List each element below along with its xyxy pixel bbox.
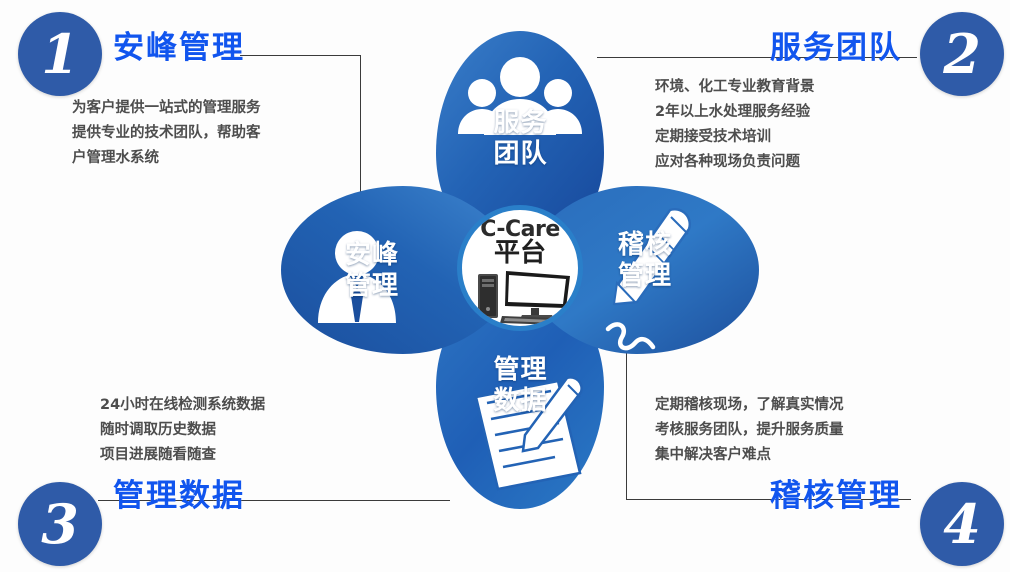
petal-label-audit-management: 稽核 管理 [618,230,718,292]
petal-label-service-team: 服务 团队 [463,108,578,170]
step-number-1: 1 [18,12,102,96]
section-body-4: 定期稽核现场，了解真实情况 考核服务团队，提升服务质量 集中解决客户难点 [655,393,844,468]
body-line: 2年以上水处理服务经验 [655,100,815,125]
step-number-4: 4 [920,482,1004,566]
infographic-canvas: 服务 团队 安峰 管理 稽核 管理 管理 数据 C-Care 平台 1 2 [0,0,1010,572]
body-line: 考核服务团队，提升服务质量 [655,418,844,443]
body-line: 定期稽核现场，了解真实情况 [655,393,844,418]
body-line: 随时调取历史数据 [100,418,265,443]
body-line: 应对各种现场负责问题 [655,150,815,175]
body-line: 环境、化工专业教育背景 [655,75,815,100]
body-line: 集中解决客户难点 [655,443,844,468]
body-line: 为客户提供一站式的管理服务 [72,96,261,121]
desktop-computer-icon [476,268,574,326]
petal-label-anfeng-management: 安峰 管理 [345,240,445,302]
section-heading-3: 管理数据 [113,470,245,515]
body-line: 项目进展随看随查 [100,443,265,468]
body-line: 户管理水系统 [72,146,261,171]
section-heading-4: 稽核管理 [770,470,902,515]
section-heading-2: 服务团队 [770,22,902,67]
body-line: 提供专业的技术团队，帮助客 [72,121,261,146]
center-hub: C-Care 平台 [457,205,583,331]
section-body-2: 环境、化工专业教育背景 2年以上水处理服务经验 定期接受技术培训 应对各种现场负… [655,75,815,175]
petal-label-management-data: 管理 数据 [463,355,578,417]
section-body-3: 24小时在线检测系统数据 随时调取历史数据 项目进展随看随查 [100,393,265,468]
step-number-2: 2 [920,12,1004,96]
section-heading-1: 安峰管理 [113,22,245,67]
section-body-1: 为客户提供一站式的管理服务 提供专业的技术团队，帮助客 户管理水系统 [72,96,261,171]
body-line: 24小时在线检测系统数据 [100,393,265,418]
step-number-3: 3 [18,482,102,566]
body-line: 定期接受技术培训 [655,125,815,150]
hub-subtitle: 平台 [462,240,578,267]
